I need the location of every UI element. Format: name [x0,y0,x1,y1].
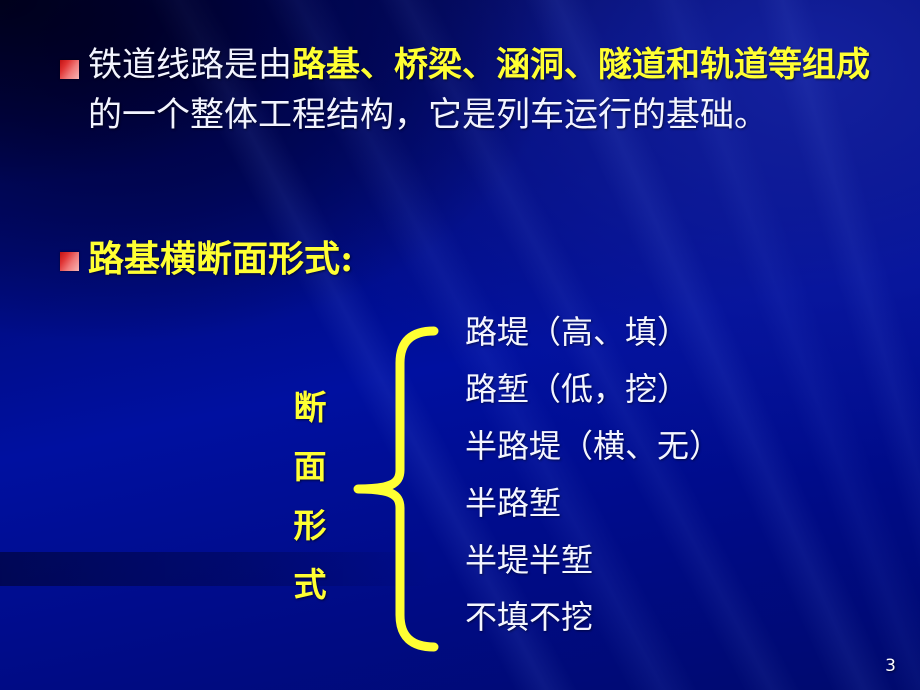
list-item: 路堑（低，挖） [465,361,895,418]
vertical-label-char-4: 式 [288,555,332,614]
vertical-label-char-2: 面 [288,437,332,496]
vertical-category-label: 断 面 形 式 [288,378,332,614]
cross-section-forms-list: 路堤（高、填） 路堑（低，挖） 半路堤（横、无） 半路堑 半堤半堑 不填不挖 [465,304,895,646]
list-item: 路堤（高、填） [465,304,895,361]
paragraph-bullet-icon [60,60,79,79]
paragraph-run-1: 铁道线路是由 [88,45,292,85]
list-item: 不填不挖 [465,589,895,646]
page-number: 3 [885,656,896,676]
paragraph-run-3: 的一个整体工程结构，它是列车运行的基础。 [88,95,768,135]
vertical-label-char-1: 断 [288,378,332,437]
list-item: 半路堑 [465,475,895,532]
paragraph-run-2-highlight: 路基、桥梁、涵洞、隧道和轨道等组成 [292,45,870,85]
paragraph-text: 铁道线路是由路基、桥梁、涵洞、隧道和轨道等组成的一个整体工程结构，它是列车运行的… [88,40,878,140]
vertical-label-char-3: 形 [288,496,332,555]
section-heading: 路基横断面形式: [88,236,353,282]
curly-brace-icon [348,325,444,653]
list-item: 半堤半堑 [465,532,895,589]
heading-bullet-icon [60,252,79,271]
list-item: 半路堤（横、无） [465,418,895,475]
slide-canvas: 铁道线路是由路基、桥梁、涵洞、隧道和轨道等组成的一个整体工程结构，它是列车运行的… [0,0,920,690]
